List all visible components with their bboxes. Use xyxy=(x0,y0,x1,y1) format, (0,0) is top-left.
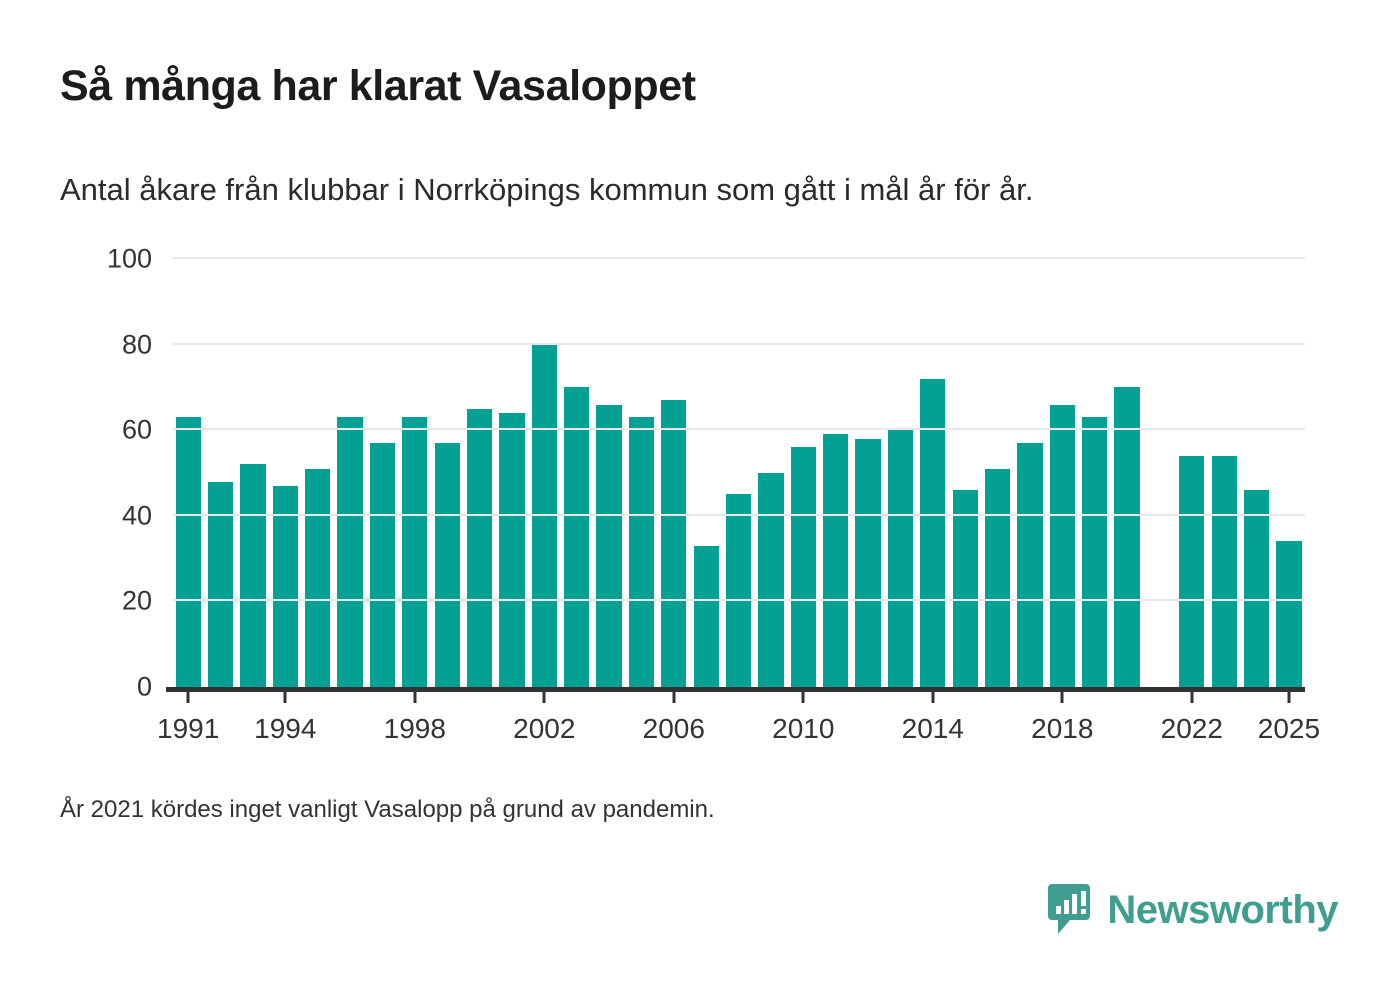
chart-page: Så många har klarat Vasaloppet Antal åka… xyxy=(0,0,1400,1000)
bar-slot[interactable] xyxy=(1143,259,1175,687)
bar-slot[interactable] xyxy=(1208,259,1240,687)
bar-slot[interactable] xyxy=(755,259,787,687)
gridline xyxy=(172,514,1305,516)
bar-slot[interactable]: 2002 xyxy=(528,259,560,687)
bar-slot[interactable] xyxy=(334,259,366,687)
bar[interactable] xyxy=(370,443,395,687)
bar-slot[interactable] xyxy=(302,259,334,687)
x-axis-line xyxy=(166,687,1305,692)
bar[interactable] xyxy=(1082,417,1107,687)
bar[interactable] xyxy=(499,413,524,687)
bar[interactable] xyxy=(435,443,460,687)
x-axis-tick-label: 1991 xyxy=(157,713,219,745)
bar-slot[interactable]: 2018 xyxy=(1046,259,1078,687)
bar[interactable] xyxy=(1179,456,1204,687)
bar[interactable] xyxy=(467,409,492,687)
bar[interactable] xyxy=(661,400,686,687)
page-title: Så många har klarat Vasaloppet xyxy=(60,62,696,111)
x-axis-tick-label: 2002 xyxy=(513,713,575,745)
newsworthy-logo: Newsworthy xyxy=(1048,884,1338,936)
bar-slot[interactable]: 2014 xyxy=(917,259,949,687)
bar-slot[interactable] xyxy=(463,259,495,687)
bar[interactable] xyxy=(985,469,1010,687)
bar-chart: 1991199419982002200620102014201820222025… xyxy=(0,240,1400,750)
bar[interactable] xyxy=(564,387,589,687)
bar[interactable] xyxy=(273,486,298,687)
bar[interactable] xyxy=(208,482,233,687)
bar-series: 1991199419982002200620102014201820222025 xyxy=(172,259,1305,687)
bar-slot[interactable]: 2010 xyxy=(787,259,819,687)
bar[interactable] xyxy=(1276,541,1301,687)
logo-text: Newsworthy xyxy=(1107,888,1338,933)
gridline xyxy=(172,343,1305,345)
bar[interactable] xyxy=(694,546,719,687)
bar[interactable] xyxy=(1212,456,1237,687)
bar[interactable] xyxy=(758,473,783,687)
bar-slot[interactable] xyxy=(561,259,593,687)
bar[interactable] xyxy=(855,439,880,687)
y-axis-tick-label: 20 xyxy=(62,586,152,617)
bar-slot[interactable]: 2022 xyxy=(1176,259,1208,687)
bar-chart-speech-bubble-icon xyxy=(1048,884,1094,936)
y-axis-tick-label: 80 xyxy=(62,329,152,360)
x-axis-tick-label: 2018 xyxy=(1031,713,1093,745)
bar[interactable] xyxy=(920,379,945,687)
bar[interactable] xyxy=(823,434,848,687)
bar-slot[interactable] xyxy=(1111,259,1143,687)
x-axis-tick-label: 2006 xyxy=(643,713,705,745)
bar[interactable] xyxy=(1244,490,1269,687)
bar-slot[interactable] xyxy=(1240,259,1272,687)
bar-slot[interactable] xyxy=(496,259,528,687)
bar-slot[interactable] xyxy=(237,259,269,687)
page-subtitle: Antal åkare från klubbar i Norrköpings k… xyxy=(60,172,1033,208)
bar[interactable] xyxy=(953,490,978,687)
gridline xyxy=(172,599,1305,601)
bar-slot[interactable] xyxy=(1079,259,1111,687)
bar[interactable] xyxy=(726,494,751,687)
bar[interactable] xyxy=(596,405,621,687)
bar-slot[interactable] xyxy=(366,259,398,687)
bar-slot[interactable] xyxy=(593,259,625,687)
y-axis-tick-label: 40 xyxy=(62,500,152,531)
x-axis-tick-label: 1994 xyxy=(254,713,316,745)
bar-slot[interactable] xyxy=(820,259,852,687)
bar-slot[interactable] xyxy=(204,259,236,687)
gridline xyxy=(172,428,1305,430)
gridline xyxy=(172,257,1305,259)
bar[interactable] xyxy=(1017,443,1042,687)
bar-slot[interactable] xyxy=(625,259,657,687)
bar-slot[interactable] xyxy=(690,259,722,687)
bar-slot[interactable]: 1994 xyxy=(269,259,301,687)
x-axis-tick-label: 1998 xyxy=(384,713,446,745)
y-axis-tick-label: 100 xyxy=(62,244,152,275)
bar-slot[interactable] xyxy=(981,259,1013,687)
bar-slot[interactable]: 1991 xyxy=(172,259,204,687)
x-axis-tick-label: 2014 xyxy=(902,713,964,745)
x-axis-tick-label: 2022 xyxy=(1161,713,1223,745)
bar[interactable] xyxy=(791,447,816,687)
bar-slot[interactable] xyxy=(1014,259,1046,687)
bar-slot[interactable] xyxy=(852,259,884,687)
bar[interactable] xyxy=(1114,387,1139,687)
bar[interactable] xyxy=(240,464,265,687)
bar-slot[interactable] xyxy=(949,259,981,687)
bar-slot[interactable]: 2025 xyxy=(1273,259,1305,687)
bar[interactable] xyxy=(337,417,362,687)
y-axis-tick-label: 60 xyxy=(62,415,152,446)
bar[interactable] xyxy=(1050,405,1075,687)
x-axis-tick-label: 2025 xyxy=(1258,713,1320,745)
bar[interactable] xyxy=(629,417,654,687)
bar[interactable] xyxy=(305,469,330,687)
footnote: År 2021 kördes inget vanligt Vasalopp på… xyxy=(60,796,715,824)
bar-slot[interactable] xyxy=(431,259,463,687)
bar[interactable] xyxy=(176,417,201,687)
bar[interactable] xyxy=(402,417,427,687)
plot-area: 1991199419982002200620102014201820222025 xyxy=(172,259,1305,687)
bar-slot[interactable]: 2006 xyxy=(658,259,690,687)
bar[interactable] xyxy=(888,430,913,687)
bar-slot[interactable] xyxy=(884,259,916,687)
bar-slot[interactable]: 1998 xyxy=(399,259,431,687)
bar-slot[interactable] xyxy=(722,259,754,687)
y-axis-tick-label: 0 xyxy=(62,672,152,703)
x-axis-tick-label: 2010 xyxy=(772,713,834,745)
